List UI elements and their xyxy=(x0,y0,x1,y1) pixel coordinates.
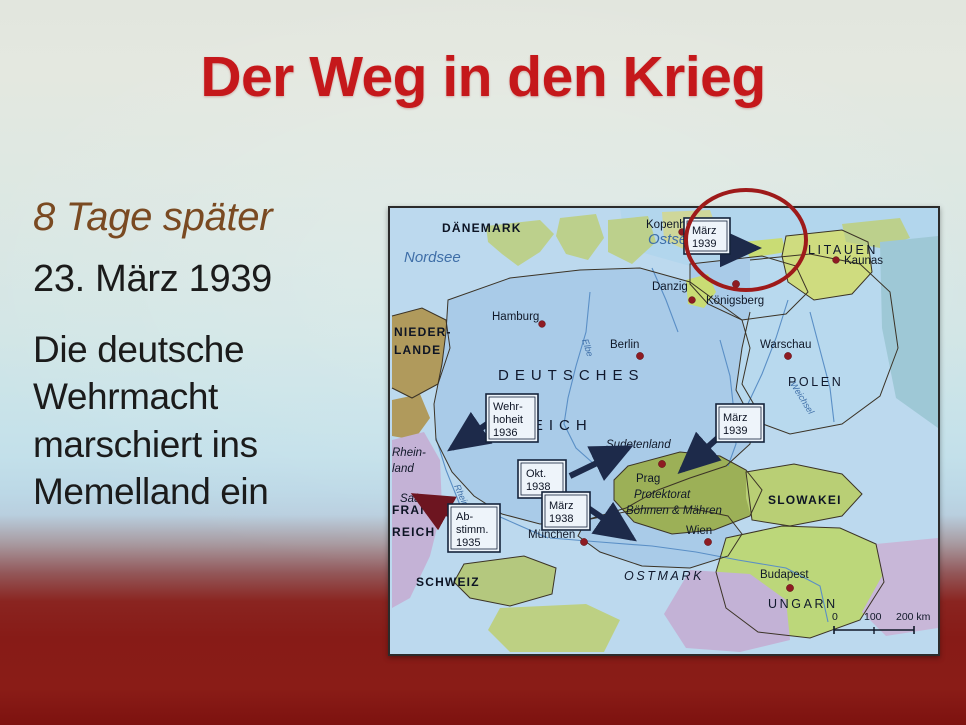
city-label-koenigsberg: Königsberg xyxy=(706,295,764,307)
callout-saar-line2: stimm. xyxy=(456,524,488,536)
callout-ostmark-line2: 1938 xyxy=(549,513,573,525)
slide-body-text: Die deutsche Wehrmacht marschiert ins Me… xyxy=(33,326,378,515)
city-label-hamburg: Hamburg xyxy=(492,311,539,323)
scale-label-zero: 0 xyxy=(832,611,838,623)
left-text-column: 8 Tage später 23. März 1939 Die deutsche… xyxy=(33,196,378,515)
callout-protektorat-line1: März xyxy=(723,412,747,424)
historical-map-image: Nordsee Ostsee Elbe Oder Rhein Weichsel … xyxy=(388,206,940,656)
callout-rheinland-line2: hoheit xyxy=(493,414,523,426)
slide-date: 23. März 1939 xyxy=(33,260,378,300)
city-label-wien: Wien xyxy=(686,525,712,537)
body-line-4: Memelland ein xyxy=(33,468,378,515)
city-label-warschau: Warschau xyxy=(760,339,811,351)
body-line-1: Die deutsche xyxy=(33,326,378,373)
callout-saar-line1: Ab- xyxy=(456,511,473,523)
country-label-slowakei: SLOWAKEI xyxy=(768,493,842,507)
country-label-niederlande-1: NIEDER- xyxy=(394,325,452,339)
country-label-ungarn: UNGARN xyxy=(768,597,838,611)
country-label-polen: POLEN xyxy=(788,375,843,389)
country-label-daenemark: DÄNEMARK xyxy=(442,220,522,235)
city-dot-koenigsberg xyxy=(732,280,739,287)
scale-label-mid: 100 xyxy=(864,611,882,623)
slide-subheading: 8 Tage später xyxy=(33,196,378,238)
callout-saar-line3: 1935 xyxy=(456,537,480,549)
callout-memel-line2: 1939 xyxy=(692,238,716,250)
callout-rheinland-line3: 1936 xyxy=(493,427,517,439)
presentation-slide: Der Weg in den Krieg 8 Tage später 23. M… xyxy=(0,0,966,725)
country-label-schweiz: SCHWEIZ xyxy=(416,575,480,589)
callout-ostmark-line1: März xyxy=(549,500,573,512)
callout-rheinland: Wehr- hoheit 1936 xyxy=(486,394,538,442)
city-dot-prag xyxy=(658,460,665,467)
city-label-prag: Prag xyxy=(636,473,660,485)
region-label-rheinland-2: land xyxy=(392,463,414,475)
country-label-frankreich-2: REICH xyxy=(392,525,435,539)
callout-rheinland-line1: Wehr- xyxy=(493,401,523,413)
city-dot-budapest xyxy=(786,584,793,591)
city-label-berlin: Berlin xyxy=(610,339,639,351)
city-dot-danzig xyxy=(689,297,696,304)
scale-label-max: 200 km xyxy=(896,611,931,623)
country-label-niederlande-2: LANDE xyxy=(394,343,441,357)
body-line-3: marschiert ins xyxy=(33,421,378,468)
city-dot-kaunas xyxy=(833,257,840,264)
callout-ostmark: März 1938 xyxy=(542,492,590,530)
city-dot-hamburg xyxy=(539,321,546,328)
city-label-budapest: Budapest xyxy=(760,569,809,581)
body-line-2: Wehrmacht xyxy=(33,373,378,420)
region-label-boehmen-maehren: Böhmen & Mähren xyxy=(626,505,722,517)
city-label-danzig: Danzig xyxy=(652,281,688,293)
callout-memel-line1: März xyxy=(692,225,716,237)
country-label-ostmark: OSTMARK xyxy=(624,569,704,583)
region-label-protektorat: Protektorat xyxy=(634,489,691,501)
region-label-rheinland-1: Rhein- xyxy=(392,447,426,459)
city-label-kaunas: Kaunas xyxy=(844,255,883,267)
region-label-sudetenland: Sudetenland xyxy=(606,439,671,451)
country-label-deutsches: DEUTSCHES xyxy=(498,367,645,384)
city-dot-berlin xyxy=(636,352,643,359)
callout-protektorat: März 1939 xyxy=(716,404,764,442)
callout-saar: Ab- stimm. 1935 xyxy=(448,504,500,552)
slide-title: Der Weg in den Krieg xyxy=(0,44,966,110)
callout-memel: März 1939 xyxy=(684,218,730,254)
city-dot-warschau xyxy=(784,352,791,359)
callout-protektorat-line2: 1939 xyxy=(723,425,747,437)
city-dot-muenchen xyxy=(580,538,587,545)
sea-label-nordsee: Nordsee xyxy=(404,249,461,266)
city-dot-wien xyxy=(704,538,711,545)
italy-territory xyxy=(488,604,620,652)
callout-sudeten-line1: Okt. xyxy=(526,468,546,480)
